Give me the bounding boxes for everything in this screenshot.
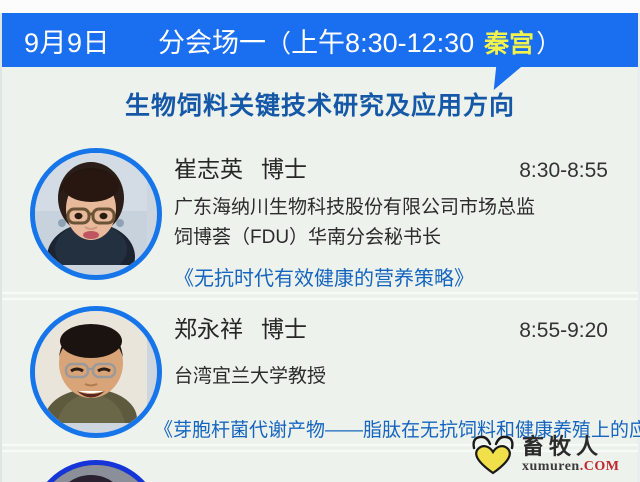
heart-logo-icon	[470, 434, 516, 476]
session-banner: 9月9日 分会场一（上午8:30-12:30秦宫）	[2, 13, 638, 67]
page-title: 生物饲料关键技术研究及应用方向	[0, 86, 640, 122]
speaker-row[interactable]: 崔志英博士 8:30-8:55 广东海纳川生物科技股份有限公司市场总监 饲博荟（…	[2, 140, 638, 292]
speaker-name-line: 崔志英博士 8:30-8:55	[174, 150, 624, 184]
speaker-degree: 博士	[261, 316, 307, 342]
speaker-affiliation-1: 台湾宜兰大学教授	[174, 364, 624, 390]
speaker-affiliation-1: 广东海纳川生物科技股份有限公司市场总监	[174, 195, 624, 221]
speaker-name: 郑永祥博士	[174, 310, 307, 344]
speaker-info: 崔志英博士 8:30-8:55 广东海纳川生物科技股份有限公司市场总监 饲博荟（…	[174, 150, 624, 291]
speaker-info: 郑永祥博士 8:55-9:20 台湾宜兰大学教授 《芽胞杆菌代谢产物——脂肽在无…	[174, 310, 624, 390]
banner-paren-open: （	[266, 24, 291, 60]
watermark-en-main: xumuren	[522, 459, 580, 474]
banner-session-info: 分会场一（上午8:30-12:30秦宫）	[158, 21, 561, 60]
watermark-cn: 畜牧人	[522, 437, 619, 459]
speaker-name-text: 郑永祥	[174, 316, 243, 342]
speaker-affiliation-2: 饲博荟（FDU）华南分会秘书长	[174, 225, 624, 251]
speaker-time: 8:55-9:20	[519, 319, 624, 343]
schedule-poster: 9月9日 分会场一（上午8:30-12:30秦宫） 生物饲料关键技术研究及应用方…	[0, 0, 640, 482]
speaker-time: 8:30-8:55	[519, 159, 624, 183]
avatar-next-speaker	[30, 460, 162, 482]
banner-session-name: 分会场一	[158, 21, 266, 60]
top-strip	[0, 0, 640, 13]
banner-time-range: 上午8:30-12:30	[291, 21, 474, 60]
banner-venue: 秦宫	[484, 24, 534, 60]
speaker-degree: 博士	[261, 156, 307, 182]
banner-date: 9月9日	[24, 21, 110, 60]
speaker-topic[interactable]: 《无抗时代有效健康的营养策略》	[174, 262, 624, 291]
speaker-name-line: 郑永祥博士 8:55-9:20	[174, 310, 624, 344]
speaker-name: 崔志英博士	[174, 150, 307, 184]
avatar-zheng-yongxiang	[30, 306, 162, 438]
avatar-cui-zhiying	[30, 148, 162, 280]
watermark: 畜牧人 xumuren.COM	[470, 432, 636, 478]
watermark-text: 畜牧人 xumuren.COM	[522, 437, 619, 474]
row-separator	[2, 292, 638, 300]
speaker-name-text: 崔志英	[174, 156, 243, 182]
speaker-row[interactable]: 郑永祥博士 8:55-9:20 台湾宜兰大学教授 《芽胞杆菌代谢产物——脂肽在无…	[2, 300, 638, 448]
banner-paren-close: ）	[536, 24, 561, 60]
watermark-en: xumuren.COM	[522, 460, 619, 474]
watermark-en-suffix: .COM	[580, 459, 620, 474]
